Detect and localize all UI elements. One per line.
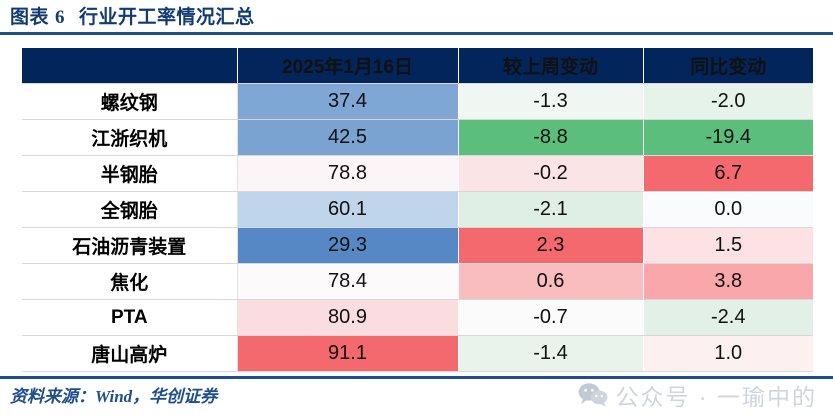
cell-yoy-6: -2.4	[643, 300, 813, 336]
cell-wow-5: 0.6	[458, 264, 643, 300]
table-row: 江浙织机42.5-8.8-19.4	[22, 120, 813, 156]
cell-yoy-5: 3.8	[643, 264, 813, 300]
row-label-6: PTA	[22, 300, 237, 336]
cell-wow-1: -8.8	[458, 120, 643, 156]
cell-wow-4: 2.3	[458, 228, 643, 264]
table-row: PTA80.9-0.7-2.4	[22, 300, 813, 336]
operating-rate-table: 2025年1月16日 较上周变动 同比变动 螺纹钢37.4-1.3-2.0江浙织…	[22, 48, 813, 372]
column-header-level: 2025年1月16日	[237, 48, 458, 84]
wechat-icon	[578, 382, 608, 408]
exhibit-label: 图表	[10, 7, 49, 28]
cell-yoy-4: 1.5	[643, 228, 813, 264]
cell-level-1: 42.5	[237, 120, 458, 156]
row-label-5: 焦化	[22, 264, 237, 300]
row-label-4: 石油沥青装置	[22, 228, 237, 264]
cell-wow-6: -0.7	[458, 300, 643, 336]
cell-wow-2: -0.2	[458, 156, 643, 192]
cell-level-4: 29.3	[237, 228, 458, 264]
cell-wow-3: -2.1	[458, 192, 643, 228]
cell-yoy-7: 1.0	[643, 336, 813, 372]
operating-rate-table-container: 2025年1月16日 较上周变动 同比变动 螺纹钢37.4-1.3-2.0江浙织…	[22, 48, 813, 372]
table-row: 焦化78.40.63.8	[22, 264, 813, 300]
footer-divider-rule	[0, 376, 833, 379]
cell-yoy-3: 0.0	[643, 192, 813, 228]
row-label-2: 半钢胎	[22, 156, 237, 192]
column-header-yoy: 同比变动	[643, 48, 813, 84]
table-row: 唐山高炉91.1-1.41.0	[22, 336, 813, 372]
exhibit-number: 6	[55, 7, 65, 28]
cell-level-6: 80.9	[237, 300, 458, 336]
row-label-7: 唐山高炉	[22, 336, 237, 372]
page-title: 图表6行业开工率情况汇总	[10, 2, 255, 29]
table-row: 螺纹钢37.4-1.3-2.0	[22, 84, 813, 120]
cell-yoy-0: -2.0	[643, 84, 813, 120]
watermark: 公众号 · 一瑜中的	[578, 378, 817, 412]
table-body: 螺纹钢37.4-1.3-2.0江浙织机42.5-8.8-19.4半钢胎78.8-…	[22, 84, 813, 372]
cell-level-0: 37.4	[237, 84, 458, 120]
cell-level-7: 91.1	[237, 336, 458, 372]
table-row: 石油沥青装置29.32.31.5	[22, 228, 813, 264]
cell-wow-0: -1.3	[458, 84, 643, 120]
cell-yoy-2: 6.7	[643, 156, 813, 192]
exhibit-title-text: 行业开工率情况汇总	[79, 7, 255, 28]
column-header-wow: 较上周变动	[458, 48, 643, 84]
cell-level-5: 78.4	[237, 264, 458, 300]
table-header: 2025年1月16日 较上周变动 同比变动	[22, 48, 813, 84]
table-header-row: 2025年1月16日 较上周变动 同比变动	[22, 48, 813, 84]
row-label-0: 螺纹钢	[22, 84, 237, 120]
column-header-industry	[22, 48, 237, 84]
cell-level-2: 78.8	[237, 156, 458, 192]
table-row: 全钢胎60.1-2.10.0	[22, 192, 813, 228]
row-label-3: 全钢胎	[22, 192, 237, 228]
cell-level-3: 60.1	[237, 192, 458, 228]
table-row: 半钢胎78.8-0.26.7	[22, 156, 813, 192]
cell-wow-7: -1.4	[458, 336, 643, 372]
watermark-text: 公众号 · 一瑜中的	[616, 378, 817, 412]
cell-yoy-1: -19.4	[643, 120, 813, 156]
row-label-1: 江浙织机	[22, 120, 237, 156]
title-divider-rule	[0, 32, 833, 35]
source-note: 资料来源：Wind，华创证券	[10, 382, 217, 407]
